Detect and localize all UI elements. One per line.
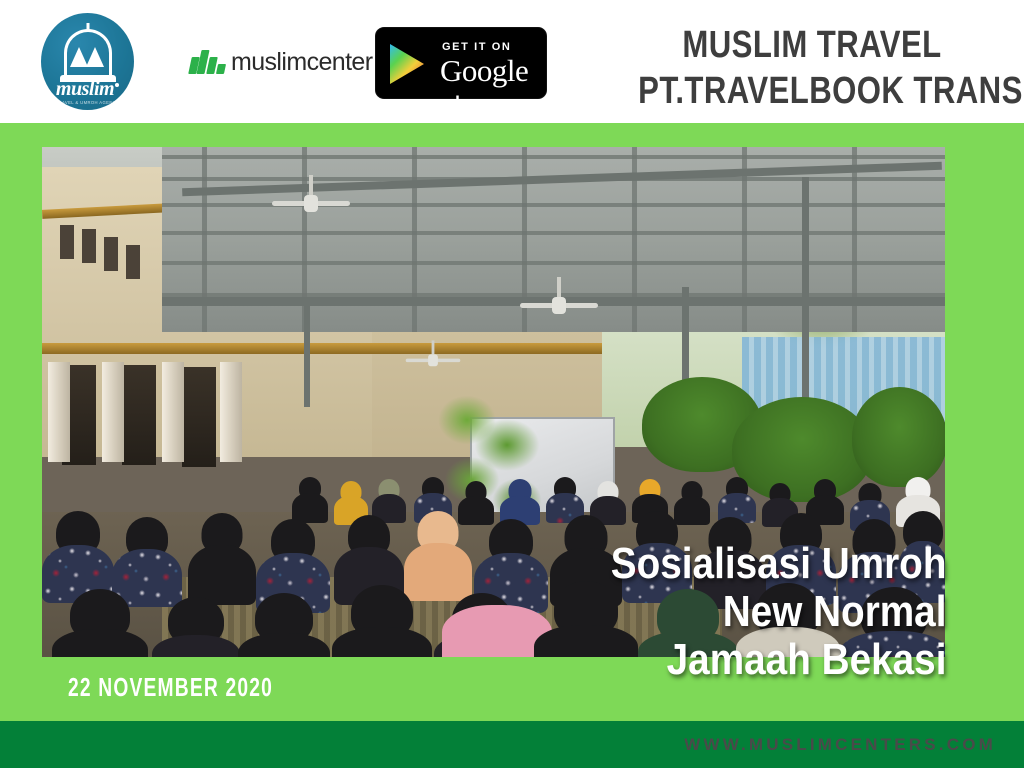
photo-column [102,362,124,462]
attendee [238,593,330,657]
photo-wall-vent [82,229,96,263]
photo-column [48,362,70,462]
photo-column [162,362,184,462]
muslim-logo: muslim TRAVEL & UMROH AGENCY [41,13,134,110]
google-play-triangle-icon [390,44,424,84]
photo-roof-post [304,302,310,407]
logo-wordmark: muslim [41,79,134,99]
muslimcenter-mark-icon [190,50,224,74]
logo-tagline: TRAVEL & UMROH AGENCY [41,100,134,106]
photo-wall-vent [104,237,118,271]
brand-title: MUSLIM TRAVEL PT.TRAVELBOOK TRANS [600,22,1024,114]
photo-doorway [122,365,156,465]
photo-wall-trim [42,343,602,354]
google-play-badge[interactable]: GET IT ON Google play [375,27,547,99]
attendee [332,585,432,657]
overlay-title-line3: Jamaah Bekasi [610,636,946,684]
photo-wall-vent [126,245,140,279]
event-date: 22 NOVEMBER 2020 [68,672,273,703]
attendee [152,597,240,657]
ceiling-fan-icon [520,297,598,313]
photo-doorway [182,367,216,467]
attendee [52,589,148,657]
poster-canvas: muslim TRAVEL & UMROH AGENCY muslimcente… [0,0,1024,768]
ceiling-fan-icon [406,354,461,365]
overlay-title-line2: New Normal [610,588,946,636]
photo-wall-vent [60,225,74,259]
overlay-title-line1: Sosialisasi Umroh [610,540,946,588]
website-url[interactable]: WWW.MUSLIMCENTERS.COM [684,735,996,755]
ceiling-fan-icon [272,195,350,211]
photo-roof-post [802,177,809,417]
poster-header: muslim TRAVEL & UMROH AGENCY muslimcente… [0,0,1024,123]
attendee [292,477,328,523]
photo-shrub [852,387,945,487]
google-play-store-label: Google play [440,54,546,123]
muslimcenter-logo: muslimcenter [190,47,372,77]
peaks-icon [71,45,105,67]
brand-title-line2: PT.TRAVELBOOK TRANS [638,68,986,114]
photo-column [220,362,242,462]
google-play-get-it-on-label: GET IT ON [442,41,511,53]
overlay-event-title: Sosialisasi Umroh New Normal Jamaah Beka… [565,540,946,684]
attendee [188,513,256,605]
muslimcenter-label: muslimcenter [231,48,372,77]
brand-title-line1: MUSLIM TRAVEL [638,22,986,68]
